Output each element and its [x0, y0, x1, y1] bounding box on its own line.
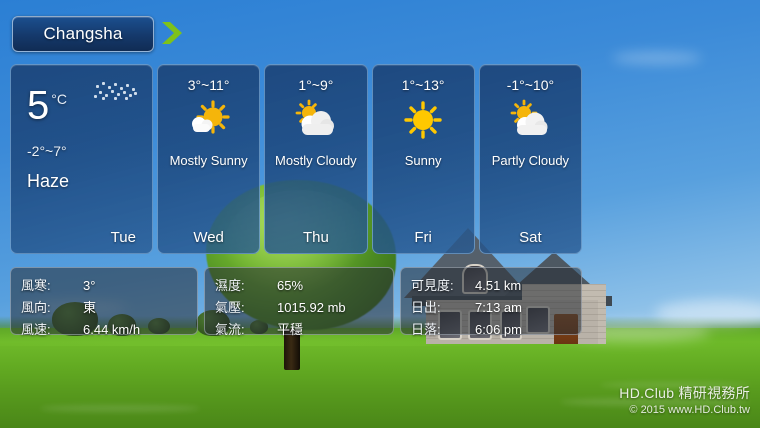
detail-key: 氣流: [215, 319, 277, 338]
detail-row: 日出:7:13 am [411, 297, 571, 316]
today-condition: Haze [27, 171, 69, 192]
forecast-range: -1°~10° [480, 77, 581, 93]
today-day-label: Tue [11, 229, 152, 246]
detail-row: 風速:6.44 km/h [21, 319, 187, 338]
detail-value: 平穩 [277, 319, 303, 338]
today-temperature: 5°C [27, 79, 67, 125]
haze-icon [94, 81, 138, 101]
detail-row: 濕度:65% [215, 275, 383, 294]
chevron-right-icon[interactable] [160, 19, 186, 47]
detail-value: 1015.92 mb [277, 300, 346, 315]
forecast-condition: Partly Cloudy [480, 153, 581, 168]
sunny-icon [400, 99, 446, 141]
forecast-card-wed[interactable]: 3°~11° [157, 64, 260, 254]
today-card[interactable]: 5°C -2°~7° Haze Tue [10, 64, 153, 254]
detail-row: 可見度:4.51 km [411, 275, 571, 294]
detail-key: 風寒: [21, 275, 83, 294]
today-temperature-unit: °C [51, 91, 67, 107]
forecast-day-label: Thu [265, 229, 366, 246]
detail-key: 氣壓: [215, 297, 277, 316]
grass-highlight [40, 405, 200, 412]
detail-key: 日落: [411, 319, 475, 338]
detail-value: 3° [83, 278, 95, 293]
detail-value: 4.51 km [475, 278, 521, 293]
detail-key: 可見度: [411, 275, 475, 294]
mostly-sunny-icon [186, 99, 232, 141]
forecast-card-sat[interactable]: -1°~10° [479, 64, 582, 254]
detail-key: 日出: [411, 297, 475, 316]
forecast-condition: Sunny [373, 153, 474, 168]
today-temperature-range: -2°~7° [27, 143, 67, 159]
forecast-day-label: Wed [158, 229, 259, 246]
detail-row: 風寒:3° [21, 275, 187, 294]
forecast-range: 1°~9° [265, 77, 366, 93]
detail-panel-row: 風寒:3° 風向:東 風速:6.44 km/h 濕度:65% 氣壓:1015.9… [10, 267, 582, 335]
sun-detail-panel: 可見度:4.51 km 日出:7:13 am 日落:6:06 pm [400, 267, 582, 335]
detail-value: 65% [277, 278, 303, 293]
forecast-condition: Mostly Sunny [158, 153, 259, 168]
forecast-range: 1°~13° [373, 77, 474, 93]
city-name: Changsha [43, 24, 122, 44]
detail-row: 日落:6:06 pm [411, 319, 571, 338]
wind-detail-panel: 風寒:3° 風向:東 風速:6.44 km/h [10, 267, 198, 335]
weather-app: Changsha 5°C -2°~7° Haze Tue 3° [0, 0, 760, 428]
detail-key: 濕度: [215, 275, 277, 294]
detail-key: 風向: [21, 297, 83, 316]
atmosphere-detail-panel: 濕度:65% 氣壓:1015.92 mb 氣流:平穩 [204, 267, 394, 335]
watermark-line-2: © 2015 www.HD.Club.tw [619, 404, 750, 416]
detail-row: 氣流:平穩 [215, 319, 383, 338]
detail-value: 7:13 am [475, 300, 522, 315]
detail-row: 氣壓:1015.92 mb [215, 297, 383, 316]
forecast-range: 3°~11° [158, 77, 259, 93]
detail-row: 風向:東 [21, 297, 187, 316]
cloud-wisp [612, 52, 702, 64]
watermark-line-1: HD.Club 精研視務所 [619, 383, 750, 403]
detail-value: 6:06 pm [475, 322, 522, 337]
forecast-card-thu[interactable]: 1°~9° [264, 64, 367, 254]
forecast-card-fri[interactable]: 1°~13° Sunny Fri [372, 64, 475, 254]
forecast-condition: Mostly Cloudy [265, 153, 366, 168]
detail-key: 風速: [21, 319, 83, 338]
forecast-day-label: Sat [480, 229, 581, 246]
city-selector-button[interactable]: Changsha [12, 16, 154, 52]
forecast-day-label: Fri [373, 229, 474, 246]
watermark: HD.Club 精研視務所 © 2015 www.HD.Club.tw [619, 383, 750, 416]
partly-cloudy-icon [507, 99, 553, 141]
forecast-card-row: 5°C -2°~7° Haze Tue 3°~11° [10, 64, 582, 254]
today-temperature-value: 5 [27, 83, 49, 127]
mostly-cloudy-icon [293, 99, 339, 141]
detail-value: 6.44 km/h [83, 322, 140, 337]
detail-value: 東 [83, 297, 96, 316]
